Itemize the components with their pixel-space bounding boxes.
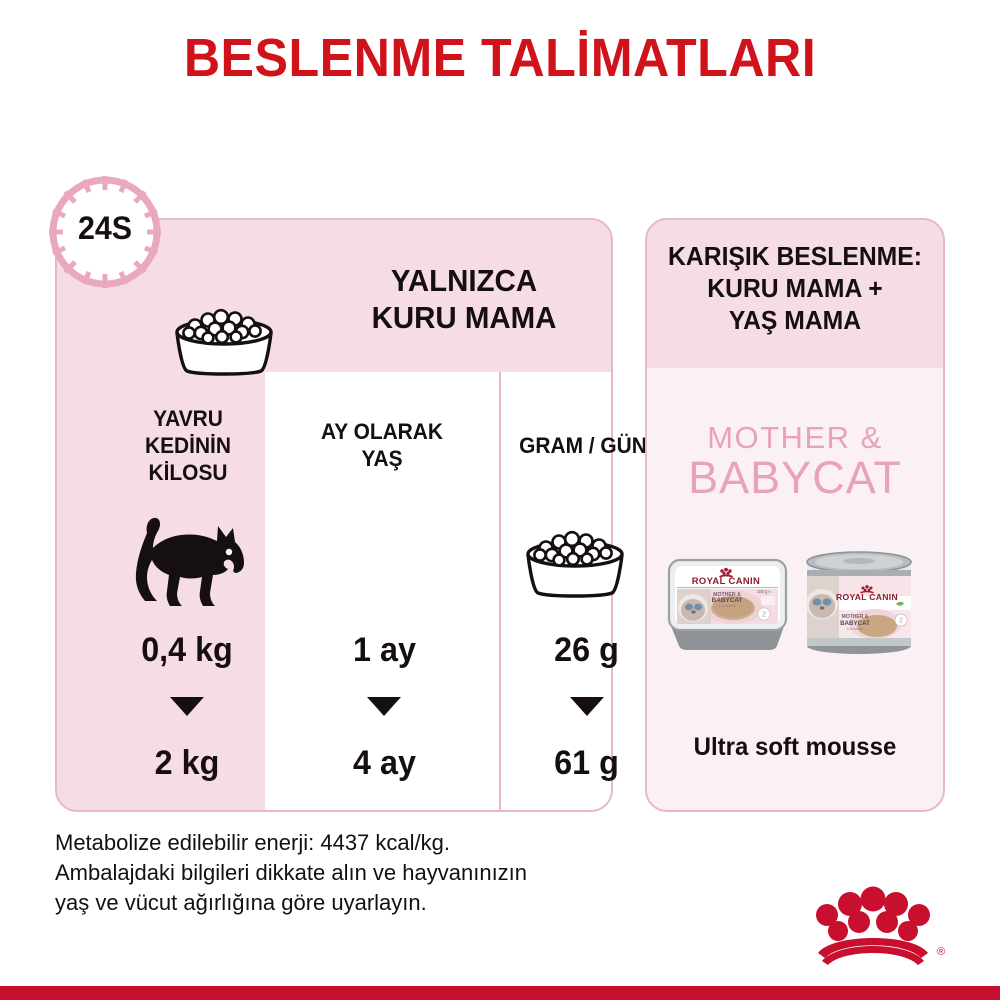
dry-food-heading-line1: YALNIZCA: [326, 262, 602, 299]
column-header-grams-line1: GRAM / GÜN: [501, 432, 664, 459]
dry-food-heading-line2: KURU MAMA: [326, 299, 602, 336]
product-image-can: ROYAL CANIN MOTHER & BABYCAT 1-4 months …: [797, 548, 922, 656]
bottom-accent-bar: [0, 986, 1000, 1000]
dry-food-feeding-panel: YALNIZCA KURU MAMA YAVRU KEDİNİN KİLOSU …: [55, 218, 613, 812]
duration-badge: 24S: [45, 172, 165, 292]
svg-text:ROYAL CANIN: ROYAL CANIN: [836, 592, 898, 602]
column-header-weight: YAVRU KEDİNİN KİLOSU: [117, 405, 260, 486]
kitten-icon: [125, 515, 255, 615]
food-bowl-icon: [165, 302, 283, 376]
footnote-line3: yaş ve vücut ağırlığına göre uyarlayın.: [55, 888, 715, 918]
footnote-line1: Metabolize edilebilir enerji: 4437 kcal/…: [55, 828, 715, 858]
column-header-age-line2: YAŞ: [292, 445, 473, 472]
royal-canin-crown-logo: ®: [795, 875, 950, 970]
mixed-feeding-heading-line2: KURU MAMA +: [654, 272, 935, 304]
page-title: BESLENME TALİMATLARI: [35, 28, 965, 88]
range-arrow-icon: [570, 697, 604, 716]
svg-text:ROYAL CANIN: ROYAL CANIN: [692, 575, 760, 586]
svg-text:1-4 months: 1-4 months: [847, 627, 863, 631]
column-header-weight-line2: KEDİNİN: [117, 432, 260, 459]
svg-text:BABYCAT: BABYCAT: [712, 597, 743, 604]
footnote: Metabolize edilebilir enerji: 4437 kcal/…: [55, 828, 715, 918]
mixed-feeding-heading: KARIŞIK BESLENME: KURU MAMA + YAŞ MAMA: [654, 240, 935, 336]
svg-text:BABYCAT: BABYCAT: [840, 620, 870, 627]
product-brand-line2: BABYCAT: [647, 452, 943, 504]
svg-text:2: 2: [899, 616, 903, 625]
range-arrow-icon: [170, 697, 204, 716]
svg-text:100 g ℮: 100 g ℮: [757, 589, 772, 594]
mixed-feeding-panel: KARIŞIK BESLENME: KURU MAMA + YAŞ MAMA M…: [645, 218, 945, 812]
value-grams-to: 61 g: [513, 743, 660, 783]
product-caption: Ultra soft mousse: [653, 733, 937, 762]
svg-text:2: 2: [762, 610, 766, 619]
mixed-feeding-heading-line1: KARIŞIK BESLENME:: [654, 240, 935, 272]
value-weight-to: 2 kg: [102, 743, 273, 783]
duration-badge-label: 24S: [48, 210, 162, 247]
mixed-feeding-heading-line3: YAŞ MAMA: [654, 304, 935, 336]
svg-text:1-4 months: 1-4 months: [719, 604, 736, 608]
product-brand-line1: MOTHER &: [647, 420, 943, 456]
food-bowl-icon: [516, 522, 634, 600]
range-arrow-icon: [367, 697, 401, 716]
column-header-weight-line3: KİLOSU: [117, 459, 260, 486]
value-grams-from: 26 g: [513, 630, 660, 670]
value-weight-from: 0,4 kg: [102, 630, 273, 670]
registered-mark: ®: [937, 946, 945, 958]
value-age-to: 4 ay: [301, 743, 467, 783]
dry-food-heading: YALNIZCA KURU MAMA: [326, 262, 602, 336]
footnote-line2: Ambalajdaki bilgileri dikkate alın ve ha…: [55, 858, 715, 888]
value-age-from: 1 ay: [301, 630, 467, 670]
product-image-tray: ROYAL CANIN MOTHER & BABYCAT 1-4 months …: [665, 550, 790, 655]
column-header-grams: GRAM / GÜN: [501, 432, 664, 459]
column-header-age: AY OLARAK YAŞ: [292, 418, 473, 472]
column-header-age-line1: AY OLARAK: [292, 418, 473, 445]
column-header-weight-line1: YAVRU: [117, 405, 260, 432]
